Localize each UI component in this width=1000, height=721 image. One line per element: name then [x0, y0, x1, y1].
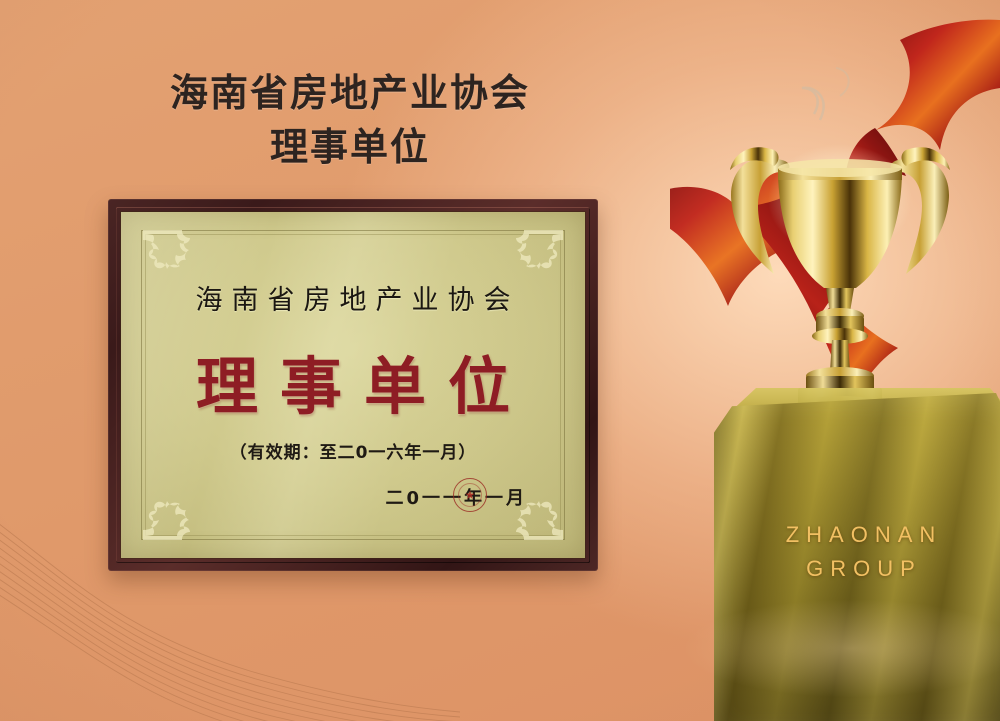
award-plaque: 海南省房地产业协会 理事单位 （有效期：至二0一六年一月） 二0一一年一月 ★ [108, 199, 598, 571]
corner-ornament-icon [141, 492, 199, 542]
corner-ornament-icon [507, 228, 565, 278]
brand-line1: ZHAONAN [714, 518, 1000, 552]
page-title-line2: 理事单位 [0, 120, 700, 174]
page-title: 海南省房地产业协会 理事单位 [0, 66, 700, 174]
plaque-face: 海南省房地产业协会 理事单位 （有效期：至二0一六年一月） 二0一一年一月 ★ [121, 212, 585, 558]
brand-text: ZHAONAN GROUP [714, 518, 1000, 586]
plaque-organization-name: 海南省房地产业协会 [121, 278, 585, 317]
seal-ring [458, 483, 482, 507]
floor-glow [670, 600, 1000, 721]
official-seal-stamp: ★ [453, 478, 487, 512]
page-title-line1: 海南省房地产业协会 [0, 66, 700, 120]
plaque-validity-text: （有效期：至二0一六年一月） [121, 438, 585, 463]
corner-ornament-icon [141, 228, 199, 278]
plaque-award-title: 理事单位 [121, 356, 585, 418]
brand-line2: GROUP [714, 552, 1000, 586]
trophy-scene: ZHAONAN GROUP [670, 0, 1000, 721]
